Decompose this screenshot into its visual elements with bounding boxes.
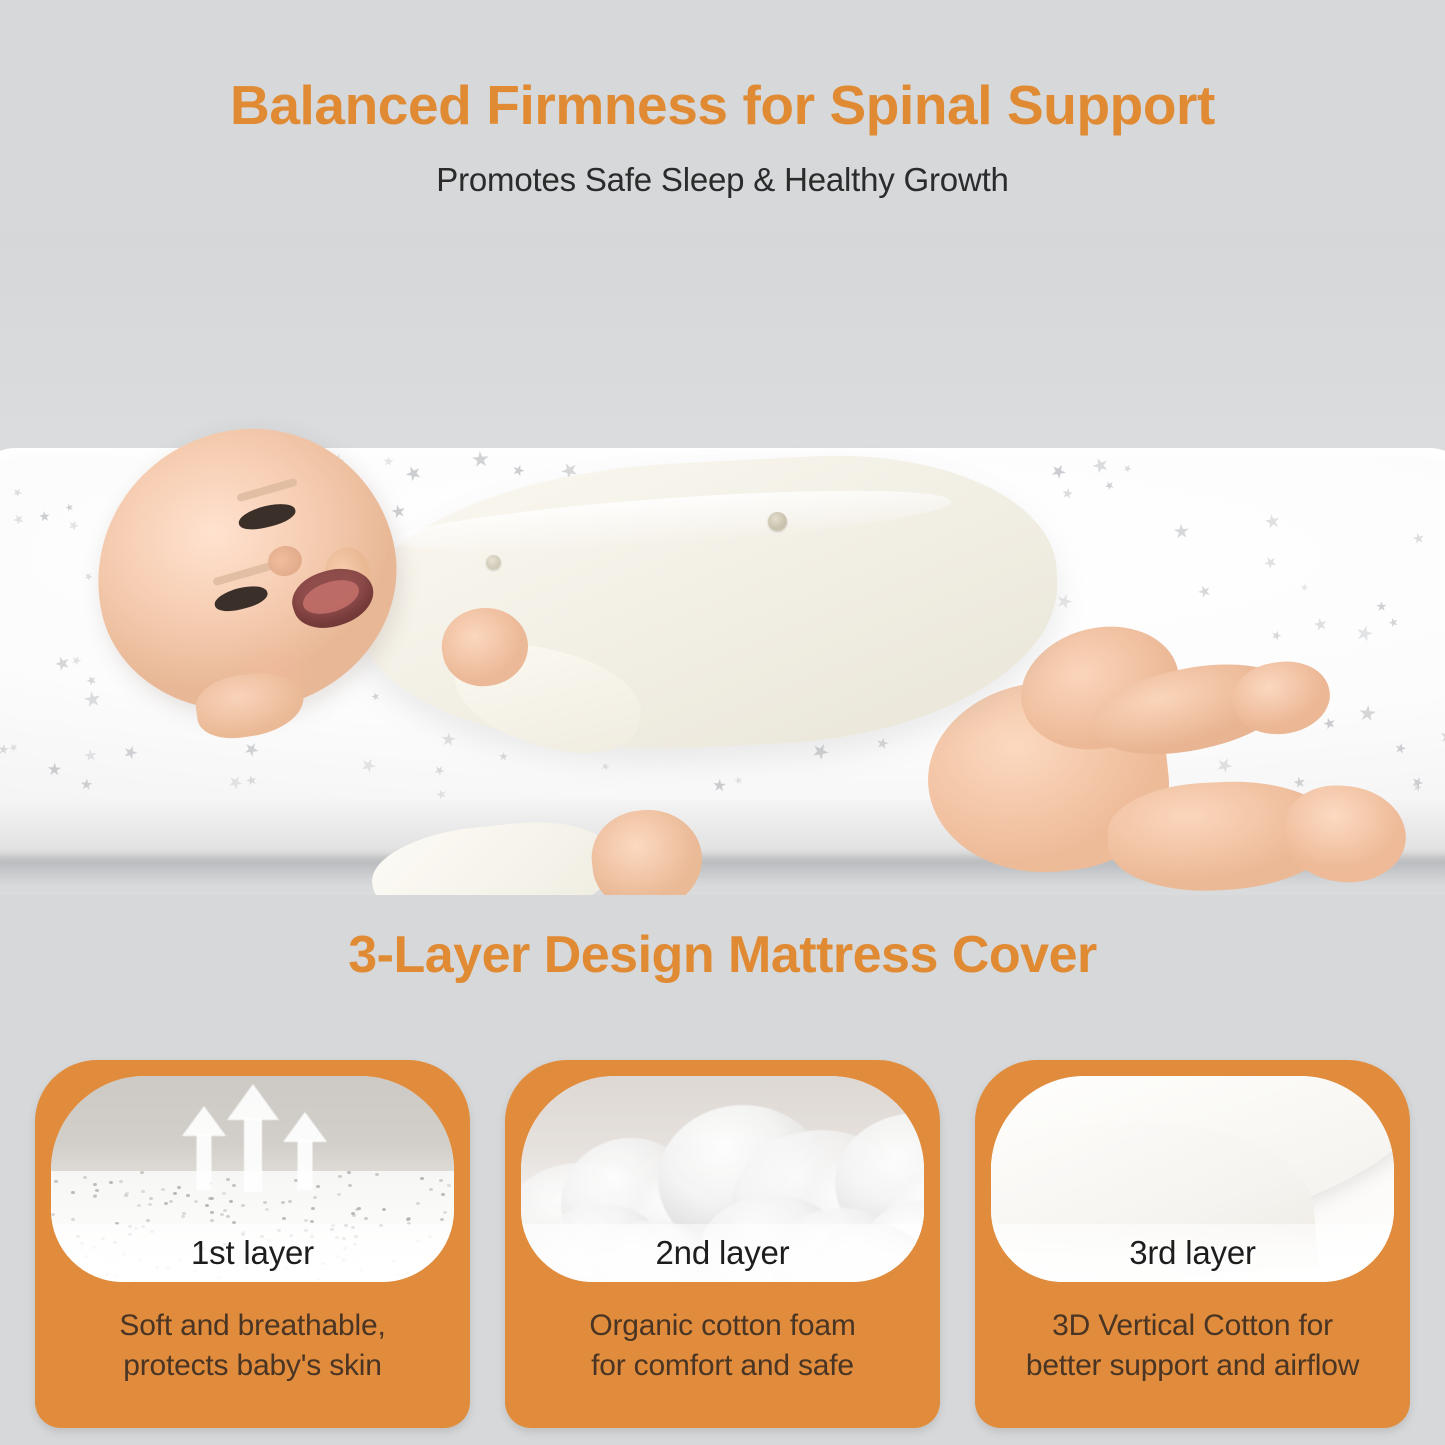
baby-fist-lower bbox=[587, 805, 707, 895]
page-subtitle: Promotes Safe Sleep & Healthy Growth bbox=[436, 161, 1008, 199]
layer-desc-1-line2: protects baby's skin bbox=[55, 1346, 450, 1386]
foam-sheet-icon: 3rd layer bbox=[991, 1076, 1394, 1282]
layer-desc-2-line1: Organic cotton foam bbox=[589, 1309, 855, 1342]
layer-label-band-1: 1st layer bbox=[51, 1224, 454, 1282]
layer-desc-1-line1: Soft and breathable, bbox=[119, 1309, 385, 1342]
layer-description-1: Soft and breathable, protects baby's ski… bbox=[55, 1306, 450, 1385]
layer-card-1[interactable]: 1st layer Soft and breathable, protects … bbox=[35, 1060, 470, 1428]
baby-illustration bbox=[0, 230, 1445, 895]
breathable-fabric-icon: 1st layer bbox=[51, 1076, 454, 1282]
layer-description-2: Organic cotton foam for comfort and safe bbox=[525, 1306, 920, 1385]
layer-desc-3-line1: 3D Vertical Cotton for bbox=[1052, 1309, 1333, 1342]
onesie-snap-button-2 bbox=[486, 555, 501, 570]
baby-arm-lower bbox=[368, 814, 617, 895]
product-infographic: Balanced Firmness for Spinal Support Pro… bbox=[0, 0, 1445, 1445]
layer-card-3[interactable]: 3rd layer 3D Vertical Cotton for better … bbox=[975, 1060, 1410, 1428]
layer-card-2[interactable]: 2nd layer Organic cotton foam for comfor… bbox=[505, 1060, 940, 1428]
layer-label-1: 1st layer bbox=[191, 1234, 314, 1272]
header-section: Balanced Firmness for Spinal Support Pro… bbox=[0, 0, 1445, 230]
cotton-puff-icon: 2nd layer bbox=[521, 1076, 924, 1282]
layer-label-2: 2nd layer bbox=[656, 1234, 790, 1272]
section-title-layers: 3-Layer Design Mattress Cover bbox=[0, 925, 1445, 985]
page-title: Balanced Firmness for Spinal Support bbox=[230, 78, 1215, 133]
layer-description-3: 3D Vertical Cotton for better support an… bbox=[995, 1306, 1390, 1385]
layer-label-band-2: 2nd layer bbox=[521, 1224, 924, 1282]
layer-label-3: 3rd layer bbox=[1129, 1234, 1256, 1272]
layer-label-band-3: 3rd layer bbox=[991, 1224, 1394, 1282]
layer-cards-row: 1st layer Soft and breathable, protects … bbox=[35, 1060, 1410, 1430]
layer-desc-3-line2: better support and airflow bbox=[995, 1346, 1390, 1386]
layer-desc-2-line2: for comfort and safe bbox=[525, 1346, 920, 1386]
onesie-snap-button bbox=[768, 512, 787, 531]
hero-photo bbox=[0, 230, 1445, 895]
